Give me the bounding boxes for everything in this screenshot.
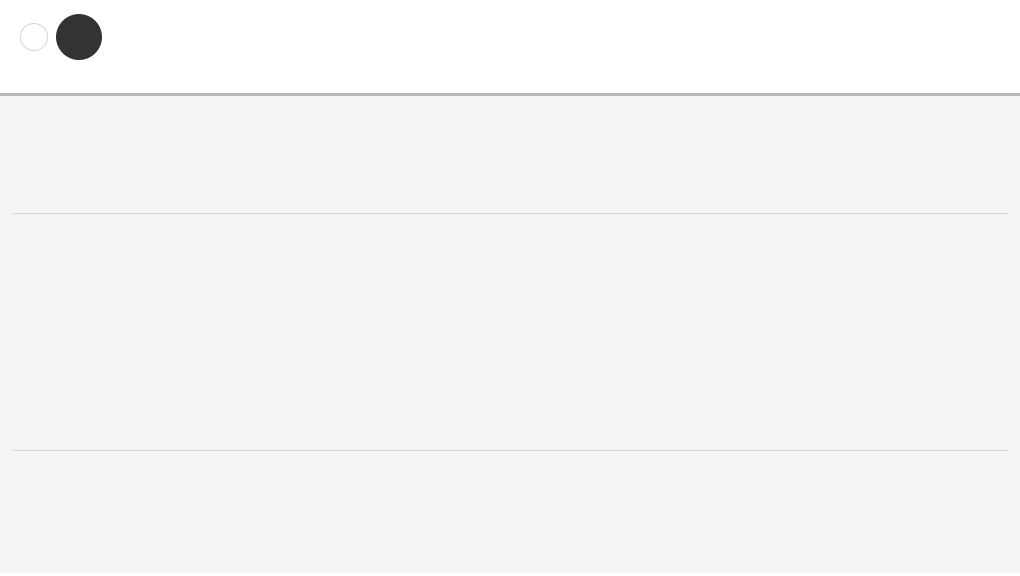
page-title — [12, 96, 1008, 118]
arrow-left-icon[interactable] — [20, 23, 48, 51]
gridline-layer — [12, 214, 1008, 450]
chart-subtitle — [12, 118, 1008, 130]
time-axis — [12, 157, 1008, 213]
chart-legend — [12, 130, 1008, 144]
slide-nav-arrows — [20, 14, 102, 60]
story-navigation-bar — [0, 0, 1020, 96]
slide-nav-cluster — [0, 10, 121, 66]
arrow-right-icon[interactable] — [56, 14, 102, 60]
gantt-chart — [12, 157, 1008, 451]
chart-card — [0, 96, 1020, 573]
gantt-plot-area — [12, 213, 1008, 451]
story-intro-text — [121, 10, 1020, 16]
